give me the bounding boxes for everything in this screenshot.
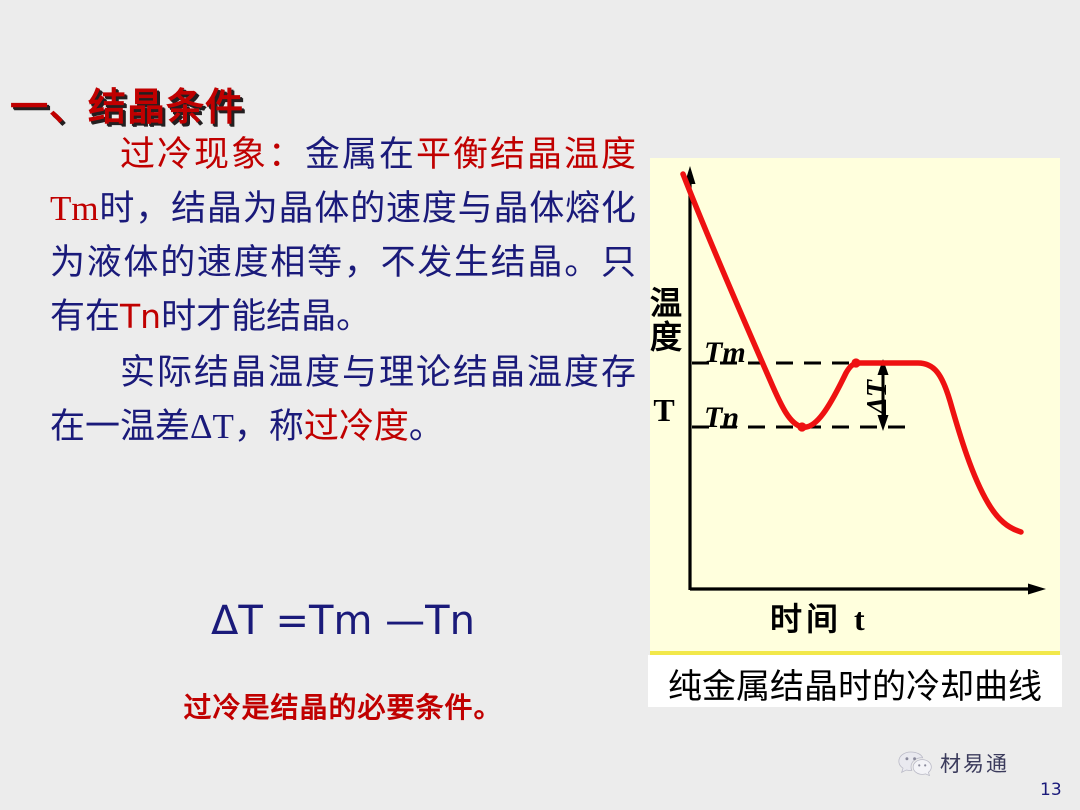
formula-delta-t: ΔT =Tm —Tn [50, 598, 636, 644]
paragraph-2: 实际结晶温度与理论结晶温度存在一温差ΔT，称过冷度。 [50, 346, 636, 454]
p1-seg3: 平衡 [416, 135, 490, 174]
conclusion-text: 过冷是结晶的必要条件。 [50, 686, 636, 726]
delta-t-label: ΔT [862, 380, 894, 415]
body-text-block: 过冷现象：金属在平衡结晶温度Tm时，结晶为晶体的速度与晶体熔化为液体的速度相等，… [50, 128, 636, 456]
chart-caption: 纯金属结晶时的冷却曲线 [650, 659, 1060, 708]
brand-name: 材易通 [940, 748, 1009, 778]
p1-seg7: 时才能结晶。 [161, 297, 371, 336]
p1-seg6: Tn [120, 297, 161, 336]
y-tick-label-tm: Tm [704, 336, 746, 370]
x-axis-label: 时间 t [770, 594, 869, 640]
cooling-curve-chart: 温度 T 时间 t Tm Tn ΔT [650, 158, 1060, 655]
p2-seg2: 过冷度 [304, 407, 409, 446]
p1-seg1: 过冷现象： [120, 135, 305, 174]
x-axis [690, 584, 1046, 595]
y-tick-label-tn: Tn [704, 401, 739, 435]
marker-undercool-minimum [797, 422, 806, 431]
p2-seg3: 。 [409, 407, 444, 446]
marker-recalescence-point [851, 358, 860, 367]
footer-brand: 材易通 [898, 748, 1009, 778]
page-number: 13 [1040, 780, 1062, 800]
paragraph-1: 过冷现象：金属在平衡结晶温度Tm时，结晶为晶体的速度与晶体熔化为液体的速度相等，… [50, 128, 636, 344]
slide-root: 一、结晶条件 过冷现象：金属在平衡结晶温度Tm时，结晶为晶体的速度与晶体熔化为液… [0, 0, 1080, 810]
y-axis-label: 温度 T [650, 286, 687, 430]
wechat-icon [898, 750, 932, 776]
p1-seg2: 金属在 [305, 135, 416, 174]
page-title: 一、结晶条件 [10, 76, 244, 131]
